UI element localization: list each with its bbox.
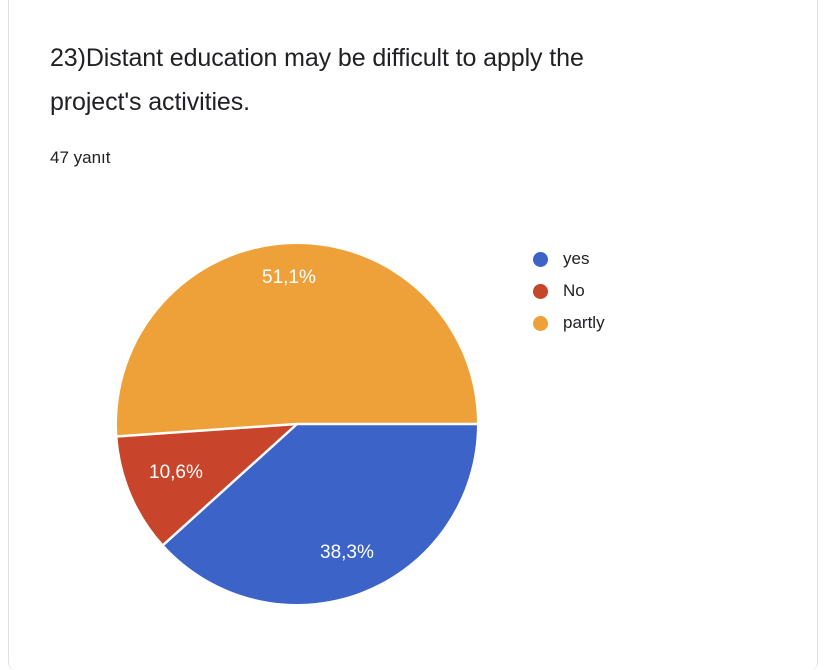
legend-swatch-icon-no [533, 284, 548, 299]
survey-result-page: 23)Distant education may be difficult to… [0, 0, 828, 658]
legend-item-yes[interactable]: yes [533, 243, 733, 275]
legend-swatch-icon-yes [533, 252, 548, 267]
pie-slice-partly[interactable] [117, 244, 477, 436]
legend-item-partly[interactable]: partly [533, 307, 733, 339]
legend-swatch-icon-partly [533, 316, 548, 331]
chart-legend: yes No partly [533, 243, 733, 339]
legend-label-yes: yes [563, 249, 589, 269]
legend-label-no: No [563, 281, 585, 301]
legend-item-no[interactable]: No [533, 275, 733, 307]
legend-label-partly: partly [563, 313, 605, 333]
pie-chart: 51,1% 10,6% 38,3% yes No partly [0, 0, 828, 658]
pie-chart-svg [100, 228, 500, 628]
